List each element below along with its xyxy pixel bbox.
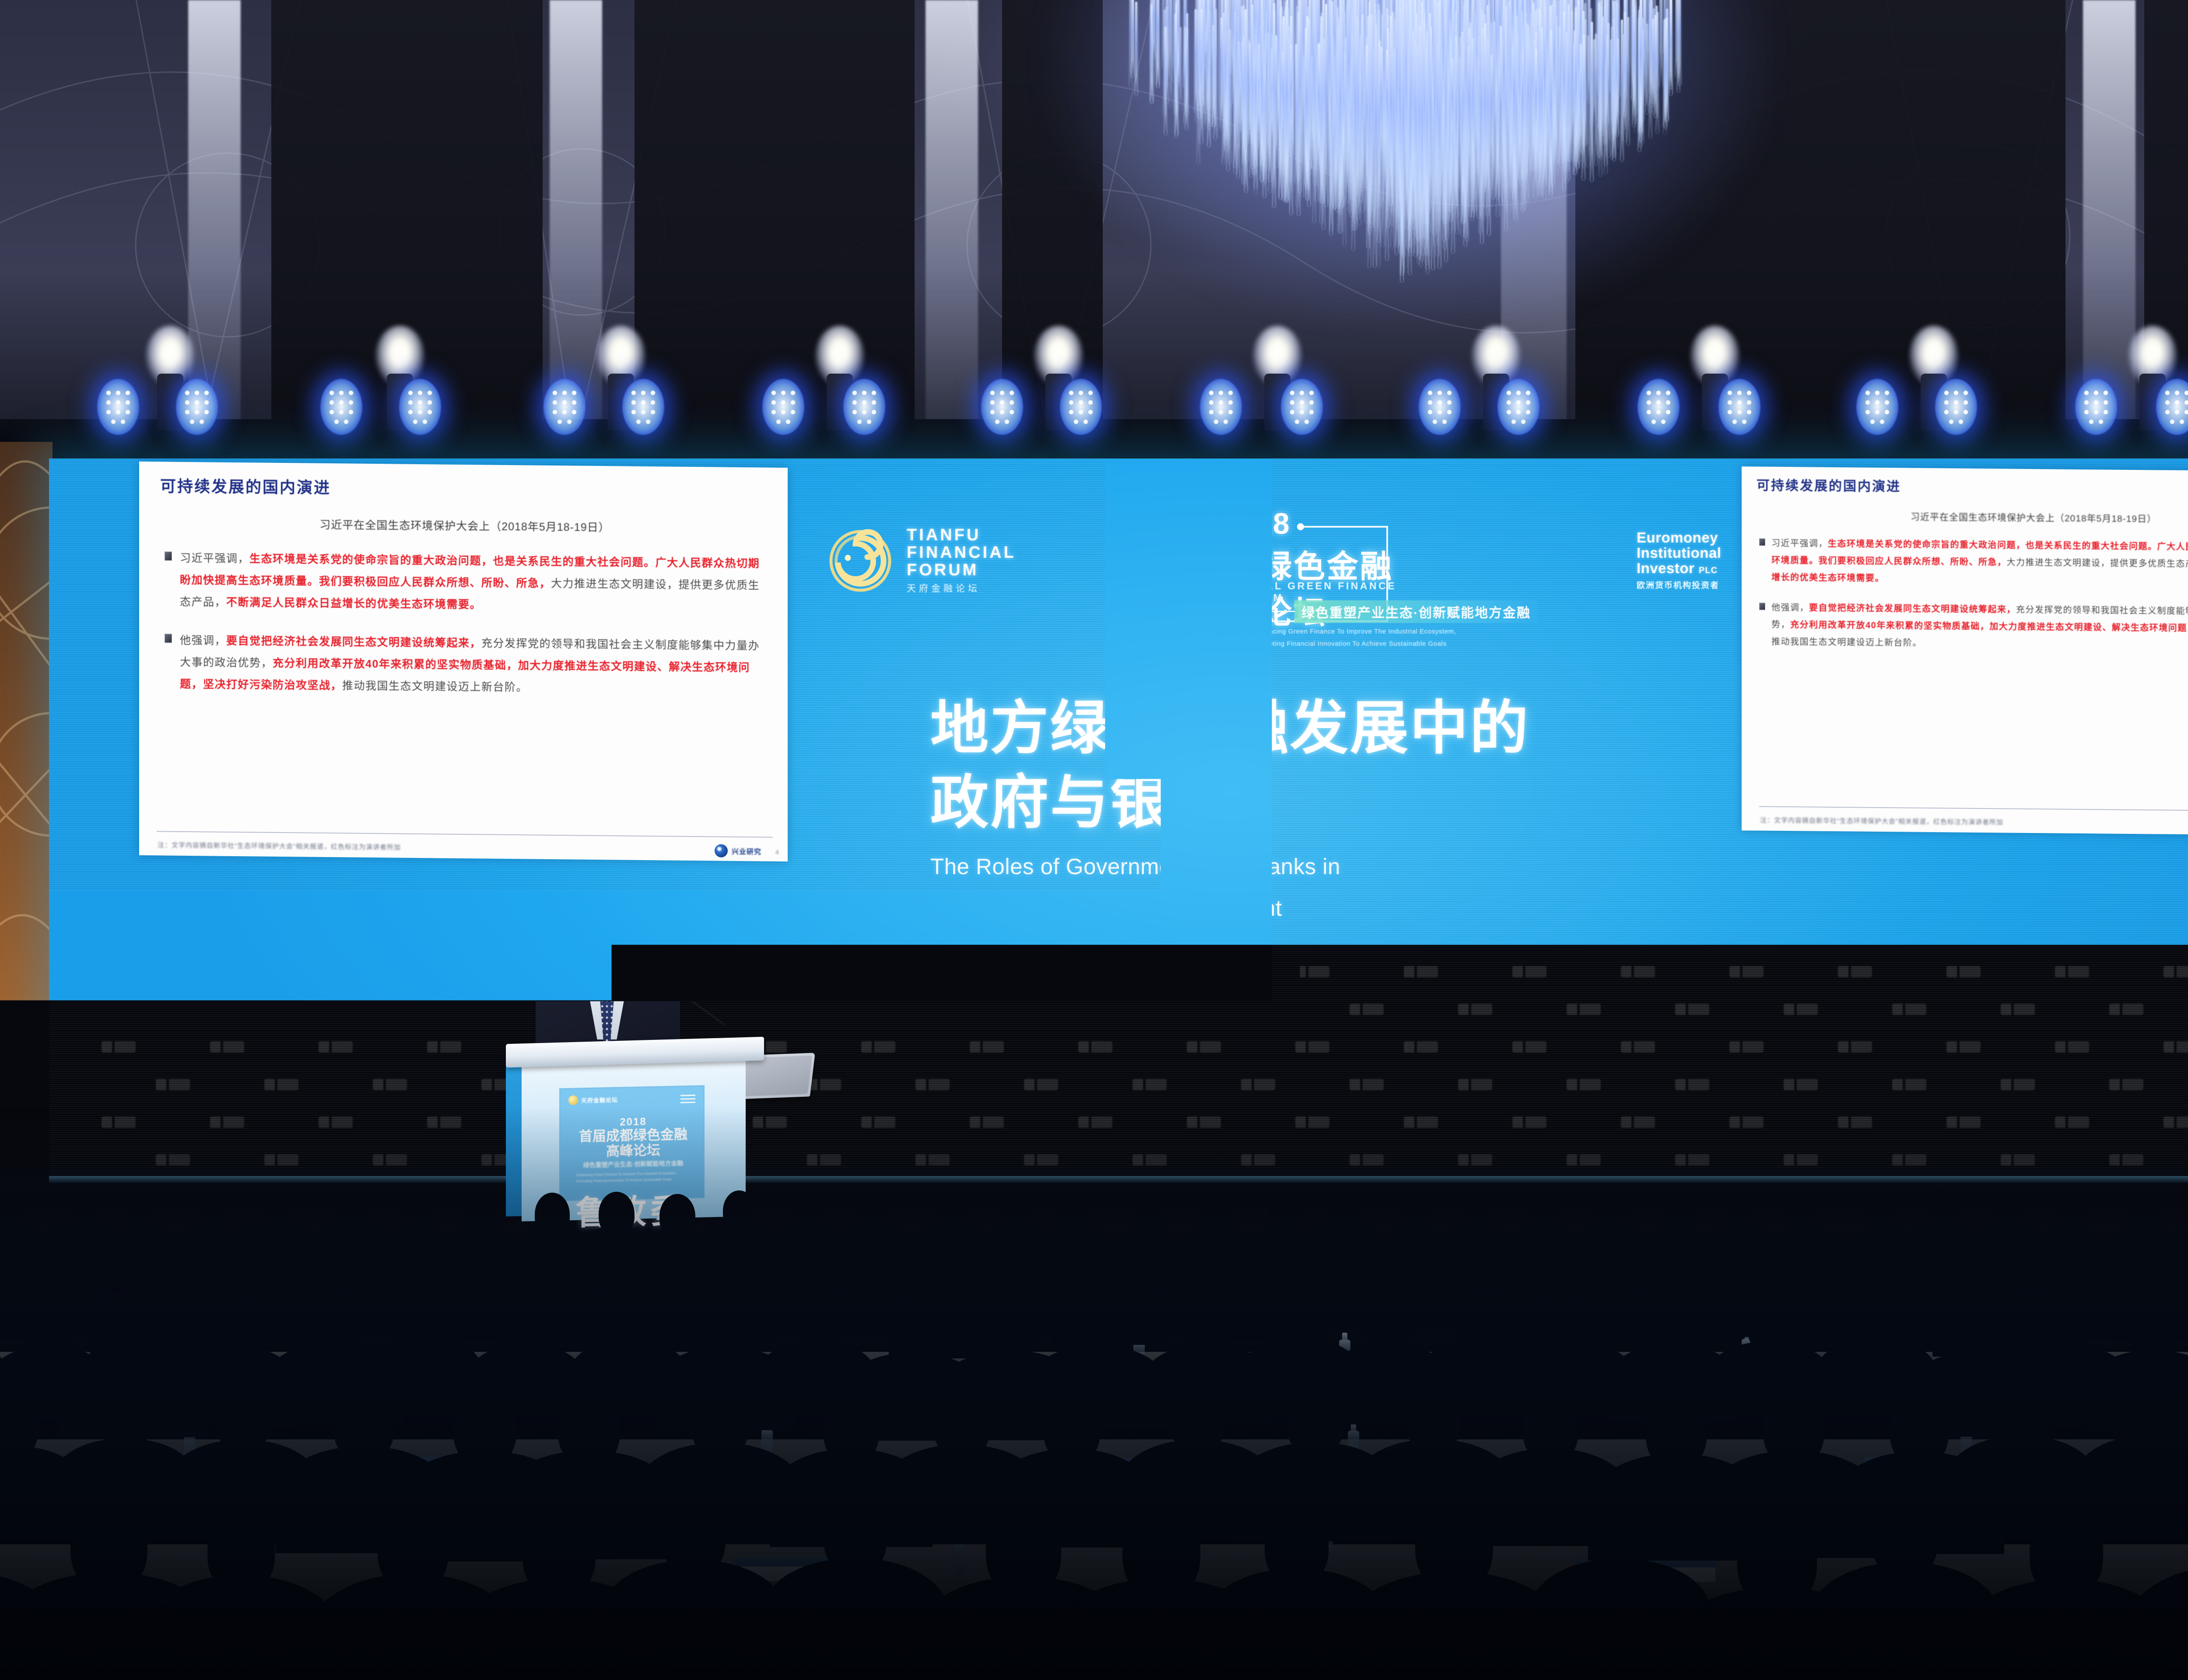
forum-slogan-en-line1: Embracing Green Finance To Improve The I… xyxy=(1252,626,1480,638)
audience-shadow-gradient xyxy=(0,1107,2188,1680)
bullet-highlight: 充分利用改革开放40年来积累的坚实物质基础，加大力度推进生态文明建设、解决生态环… xyxy=(1790,620,2188,634)
screen-logo-tile xyxy=(1838,966,1872,977)
screen-logo-tile xyxy=(2109,1079,2143,1090)
screen-logo-tile xyxy=(264,1004,298,1015)
tianfu-wordmark: TIANFU FINANCIAL FORUM 天府金融论坛 xyxy=(907,527,1016,595)
presentation-title-cn-line1: 地方绿色金融发展中的 xyxy=(930,691,1674,766)
screen-logo-tile xyxy=(102,1041,136,1053)
slide-bullet-text: 习近平强调，生态环境是关系党的使命宗旨的重大政治问题，也是关系民生的重大社会问题… xyxy=(1771,535,2188,591)
stage-led-wash-light xyxy=(981,379,1023,435)
screen-logo-tile xyxy=(1078,1041,1112,1053)
stage-led-wash-light xyxy=(843,379,885,435)
euromoney-line3: Investor PLC xyxy=(1637,561,1781,576)
podium-logo-text: 天府金融论坛 xyxy=(581,1095,618,1104)
slide-source-line: 习近平在全国生态环境保护大会上（2018年5月18-19日） xyxy=(160,515,769,536)
screen-logo-tile xyxy=(1621,1041,1655,1053)
bullet-lead: 他强调， xyxy=(1771,603,1809,613)
bullet-marker-icon xyxy=(1759,603,1765,610)
screen-logo-tile xyxy=(1350,1004,1384,1015)
screen-logo-tile xyxy=(1946,1041,1981,1053)
forum-slogan-corner-v xyxy=(1238,612,1239,626)
podium-logo-icon xyxy=(568,1095,578,1105)
forum-slogan-en-line2: Promoting Financial Innovation To Achiev… xyxy=(1252,638,1480,650)
forum-title-block: 2018 首届成都绿色金融高峰论坛 2018 CHENGDU GLOBAL GR… xyxy=(1120,516,1409,639)
stage-led-wash-light xyxy=(1497,379,1539,435)
screen-logo-tile xyxy=(1404,1041,1438,1053)
tianfu-spiral-icon xyxy=(828,528,893,593)
stage-led-wash-light xyxy=(1281,379,1323,435)
screen-logo-tile xyxy=(2109,1004,2143,1015)
screen-logo-tile xyxy=(1512,966,1546,977)
screen-logo-tile xyxy=(807,1004,841,1015)
screen-logo-tile xyxy=(156,1004,190,1015)
bullet-plain: 大力推进生态文明建设，提供更多优质生态产品， xyxy=(2007,557,2188,569)
slide-title: 可持续发展的国内演进 xyxy=(1757,478,2188,498)
stage-lighting-truss xyxy=(0,280,2188,464)
screen-logo-tile xyxy=(1133,1079,1167,1090)
screen-logo-tile xyxy=(861,1041,895,1053)
presentation-title-cn-line2: 政府与银行 xyxy=(930,766,1674,840)
forum-slogan-cn: 绿色重塑产业生态·创新赋能地方金融 xyxy=(1294,600,1538,623)
slide-panel-left: 可持续发展的国内演进 习近平在全国生态环境保护大会上（2018年5月18-19日… xyxy=(139,462,788,861)
podium-panel-lines-icon xyxy=(680,1095,695,1106)
slide-panel-right: 可持续发展的国内演进 习近平在全国生态环境保护大会上（2018年5月18-19日… xyxy=(1742,466,2188,836)
presentation-title-en-line1: The Roles of Governments and Banks in xyxy=(930,852,1674,881)
screen-logo-tile xyxy=(861,966,895,977)
screen-logo-tile xyxy=(2163,1041,2188,1053)
screen-logo-tile xyxy=(1187,1041,1221,1053)
tianfu-en-line1: TIANFU xyxy=(907,527,1016,543)
screen-logo-tile xyxy=(210,966,244,977)
bullet-plain: 推动我国生态文明建设迈上新台阶。 xyxy=(342,680,528,694)
slide-title: 可持续发展的国内演进 xyxy=(160,476,769,501)
screen-logo-tile xyxy=(1675,1079,1709,1090)
screen-logo-tile xyxy=(1892,1004,1926,1015)
screen-logo-tile xyxy=(2001,1004,2035,1015)
slide-bullet: 他强调，要自觉把经济社会发展同生态文明建设统筹起来，充分发挥党的领导和我国社会主… xyxy=(160,630,769,701)
forum-slogan-corner-h xyxy=(1238,626,1250,627)
forum-slogan-rule xyxy=(1238,611,1296,612)
screen-logo-tile xyxy=(1512,1041,1546,1053)
screen-logo-tile xyxy=(1458,1079,1492,1090)
slide-bullet: 习近平强调，生态环境是关系党的使命宗旨的重大政治问题，也是关系民生的重大社会问题… xyxy=(1757,535,2188,591)
euromoney-plc: PLC xyxy=(1699,566,1718,575)
slide-bullet: 习近平强调，生态环境是关系党的使命宗旨的重大政治问题，也是关系民生的重大社会问题… xyxy=(160,547,769,619)
forum-slogan-en: Embracing Green Finance To Improve The I… xyxy=(1252,626,1480,650)
screen-logo-tile xyxy=(1729,966,1764,977)
screen-logo-tile xyxy=(970,1041,1004,1053)
screen-logo-tile xyxy=(915,1004,950,1015)
screen-logo-tile xyxy=(1024,1004,1058,1015)
screen-logo-tile xyxy=(1784,1079,1818,1090)
screen-logo-tile xyxy=(1241,1079,1275,1090)
screen-logo-tile xyxy=(264,1079,298,1090)
bullet-marker-icon xyxy=(165,634,172,643)
conference-photo: 可持续发展的国内演进 习近平在全国生态环境保护大会上（2018年5月18-19日… xyxy=(0,0,2188,1680)
slide-corner-logo: 兴业研究 xyxy=(715,844,761,858)
tianfu-en-line3: FORUM xyxy=(907,562,1016,578)
microphone-head-icon xyxy=(653,972,664,983)
screen-logo-tile xyxy=(1133,1004,1167,1015)
screen-logo-tile xyxy=(2055,966,2089,977)
stage-led-wash-light xyxy=(2156,379,2188,435)
slide-source-line: 习近平在全国生态环境保护大会上（2018年5月18-19日） xyxy=(1757,508,2188,526)
stage-led-wash-light xyxy=(762,379,804,435)
euromoney-logo: Euromoney Institutional Investor PLC 欧洲货… xyxy=(1637,530,1781,591)
stage-led-wash-light xyxy=(1060,379,1102,435)
slide-logo-icon xyxy=(715,844,728,857)
bullet-marker-icon xyxy=(165,552,172,561)
screen-logo-tile xyxy=(2163,966,2188,977)
screen-logo-tile xyxy=(210,1041,244,1053)
screen-logo-tile xyxy=(915,1079,950,1090)
stage-led-wash-light xyxy=(543,379,586,435)
screen-logo-tile xyxy=(156,1079,190,1090)
tianfu-en-line2: FINANCIAL xyxy=(907,544,1016,561)
screen-logo-tile xyxy=(427,1041,461,1053)
screen-logo-tile xyxy=(2001,1079,2035,1090)
stage-led-wash-light xyxy=(176,379,218,435)
euromoney-cn: 欧洲货币机构投资者 xyxy=(1637,579,1781,591)
screen-logo-tile xyxy=(373,1004,407,1015)
bullet-highlight: 要自觉把经济社会发展同生态文明建设统筹起来， xyxy=(1809,603,2016,615)
slide-bullet-text: 他强调，要自觉把经济社会发展同生态文明建设统筹起来，充分发挥党的领导和我国社会主… xyxy=(1771,599,2188,655)
slide-bullet-text: 习近平强调，生态环境是关系党的使命宗旨的重大政治问题，也是关系民生的重大社会问题… xyxy=(180,547,769,619)
screen-logo-tile xyxy=(2055,1041,2089,1053)
screen-logo-tile xyxy=(319,966,353,977)
speaker-hair xyxy=(573,893,635,927)
speaker-glasses xyxy=(579,924,628,935)
screen-logo-tile xyxy=(1024,1079,1058,1090)
slide-logo-text: 兴业研究 xyxy=(732,846,761,857)
screen-logo-tile xyxy=(1838,1041,1872,1053)
stage-led-wash-light xyxy=(1637,379,1680,435)
screen-logo-tile xyxy=(807,1079,841,1090)
screen-logo-tile xyxy=(1350,1079,1384,1090)
screen-logo-tile xyxy=(373,1079,407,1090)
bullet-lead: 习近平强调， xyxy=(180,552,249,565)
screen-logo-tile xyxy=(1078,966,1112,977)
stage-led-wash-light xyxy=(1856,379,1898,435)
stage-led-wash-light xyxy=(622,379,664,435)
bullet-plain: 推动我国生态文明建设迈上新台阶。 xyxy=(1771,637,1922,648)
slide-bullet: 他强调，要自觉把经济社会发展同生态文明建设统筹起来，充分发挥党的领导和我国社会主… xyxy=(1757,599,2188,655)
euromoney-line2: Institutional xyxy=(1637,546,1781,561)
stage-led-wash-light xyxy=(320,379,362,435)
glasses-lens-left xyxy=(579,924,599,935)
stage-led-wash-light xyxy=(1200,379,1242,435)
screen-logo-tile xyxy=(1295,966,1329,977)
euromoney-line1: Euromoney xyxy=(1637,530,1781,546)
bullet-highlight: 要自觉把经济社会发展同生态文明建设统筹起来， xyxy=(226,635,481,650)
screen-logo-tile xyxy=(1295,1041,1329,1053)
presentation-title: 地方绿色金融发展中的 政府与银行 The Roles of Government… xyxy=(930,691,1674,923)
microphone-stem xyxy=(659,976,725,1025)
stage-led-wash-light xyxy=(1419,379,1461,435)
screen-logo-tile xyxy=(1187,966,1221,977)
podium-panel-logo: 天府金融论坛 xyxy=(568,1095,618,1105)
screen-logo-tile xyxy=(427,966,461,977)
screen-logo-tile xyxy=(1946,966,1981,977)
bullet-lead: 他强调， xyxy=(180,634,226,647)
stage-led-wash-light xyxy=(399,379,441,435)
screen-logo-tile xyxy=(1675,1004,1709,1015)
screen-logo-tile xyxy=(1458,1004,1492,1015)
audience-area xyxy=(0,1107,2188,1680)
screen-logo-tile xyxy=(970,966,1004,977)
euromoney-investor: Investor xyxy=(1637,560,1694,576)
tianfu-cn: 天府金融论坛 xyxy=(907,581,1016,595)
stage-led-wash-light xyxy=(97,379,139,435)
stage-led-wash-light xyxy=(2075,379,2117,435)
screen-logo-tile xyxy=(1729,1041,1764,1053)
slide-page-number: 4 xyxy=(775,849,779,856)
screen-logo-tile xyxy=(1892,1079,1926,1090)
screen-logo-tile xyxy=(102,966,136,977)
screen-logo-tile xyxy=(1567,1079,1601,1090)
screen-logo-tile xyxy=(1784,1004,1818,1015)
screen-logo-tile xyxy=(319,1041,353,1053)
screen-logo-tile xyxy=(1404,966,1438,977)
stage-led-wash-light xyxy=(1718,379,1760,435)
screen-logo-tile xyxy=(1241,1004,1275,1015)
stage-led-wash-light xyxy=(1935,379,1977,435)
screen-logo-tile xyxy=(1621,966,1655,977)
bullet-highlight: 不断满足人民群众日益增长的优美生态环境需要。 xyxy=(226,596,481,611)
presentation-title-en-line2: Local Green Finance Development xyxy=(930,894,1674,923)
glasses-lens-right xyxy=(609,924,628,935)
slide-bullet-text: 他强调，要自觉把经济社会发展同生态文明建设统筹起来，充分发挥党的领导和我国社会主… xyxy=(180,630,769,701)
forum-year: 2018 xyxy=(1120,507,1388,541)
screen-logo-tile xyxy=(1567,1004,1601,1015)
tianfu-forum-logo: TIANFU FINANCIAL FORUM 天府金融论坛 xyxy=(828,527,1016,595)
